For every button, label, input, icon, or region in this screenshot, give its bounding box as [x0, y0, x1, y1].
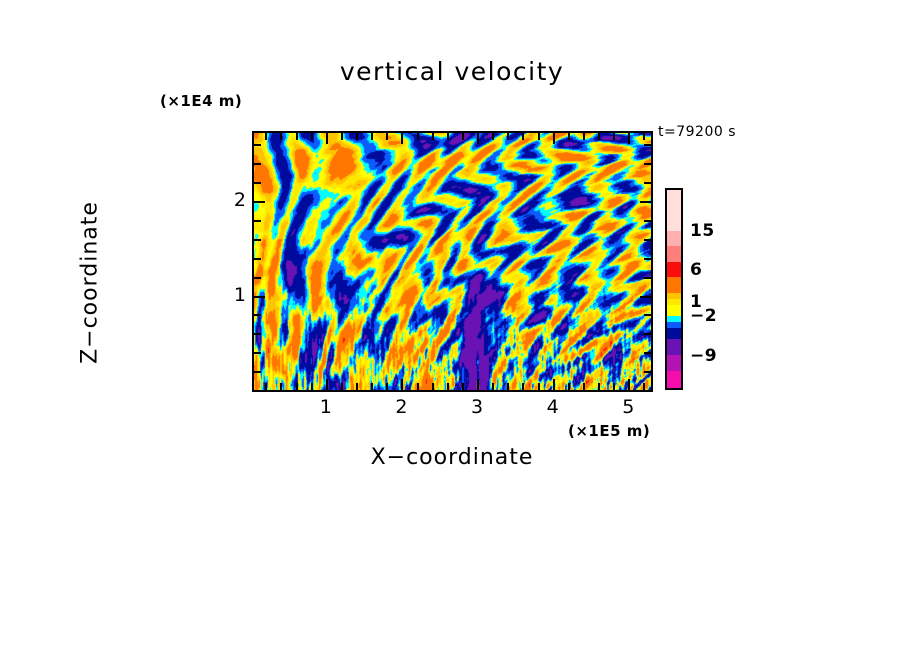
y-axis-tick: [254, 277, 261, 279]
y-axis-tick: [644, 314, 651, 316]
x-axis-tick: [326, 133, 328, 144]
x-axis-tick: [356, 383, 358, 390]
x-tick-label: 1: [306, 396, 346, 418]
y-axis-tick: [254, 258, 261, 260]
x-axis-tick: [356, 133, 358, 140]
y-axis-tick: [254, 201, 265, 203]
x-axis-tick: [296, 133, 298, 140]
y-axis-tick: [640, 296, 651, 298]
x-axis-tick: [462, 133, 464, 140]
y-axis-title: Z−coordinate: [78, 183, 103, 383]
y-axis-tick: [644, 352, 651, 354]
y-axis-tick: [254, 144, 261, 146]
x-tick-label: 4: [533, 396, 573, 418]
y-axis-tick: [254, 163, 261, 165]
x-axis-tick: [538, 383, 540, 390]
x-axis-tick: [341, 133, 343, 140]
x-axis-tick: [507, 383, 509, 390]
x-axis-tick: [401, 379, 403, 390]
x-axis-unit-label: (×1E5 m): [568, 422, 650, 440]
colorbar[interactable]: [665, 188, 683, 390]
x-axis-tick: [311, 133, 313, 140]
x-axis-tick: [462, 383, 464, 390]
y-axis-unit-label: (×1E4 m): [160, 92, 242, 110]
x-axis-tick: [386, 133, 388, 140]
colorbar-tick-label: 6: [690, 260, 702, 280]
x-axis-tick: [311, 383, 313, 390]
x-axis-tick: [553, 133, 555, 144]
x-tick-label: 2: [381, 396, 421, 418]
colorbar-tick-label: −9: [690, 346, 717, 366]
x-axis-tick: [447, 133, 449, 140]
x-axis-tick: [643, 133, 645, 140]
x-axis-title: X−coordinate: [0, 445, 904, 470]
x-axis-tick: [386, 383, 388, 390]
x-axis-tick: [538, 133, 540, 140]
page-title: vertical velocity: [0, 57, 904, 86]
y-axis-tick: [254, 314, 261, 316]
y-axis-tick: [644, 277, 651, 279]
x-axis-tick: [371, 133, 373, 140]
colorbar-tick-label: 15: [690, 221, 715, 241]
x-axis-tick: [417, 133, 419, 140]
colorbar-band: [667, 339, 681, 355]
y-axis-tick: [644, 144, 651, 146]
x-axis-tick: [522, 133, 524, 140]
x-axis-tick: [341, 383, 343, 390]
x-axis-tick: [553, 379, 555, 390]
x-axis-tick: [280, 383, 282, 390]
x-axis-tick: [265, 383, 267, 390]
y-axis-tick: [644, 220, 651, 222]
y-axis-tick: [254, 352, 261, 354]
colorbar-band: [667, 355, 681, 371]
x-axis-tick: [447, 383, 449, 390]
y-axis-tick: [254, 220, 261, 222]
y-axis-tick: [644, 239, 651, 241]
x-axis-tick: [522, 383, 524, 390]
x-axis-tick: [492, 133, 494, 140]
colorbar-tick-label: −2: [690, 306, 717, 326]
x-tick-label: 5: [608, 396, 648, 418]
x-axis-tick: [477, 379, 479, 390]
x-axis-tick: [583, 383, 585, 390]
time-stamp-label: t=79200 s: [658, 124, 736, 140]
y-axis-tick: [254, 239, 261, 241]
colorbar-band: [667, 328, 681, 339]
colorbar-band: [667, 371, 681, 388]
colorbar-band: [667, 246, 681, 262]
x-axis-tick: [432, 383, 434, 390]
x-axis-tick: [417, 383, 419, 390]
x-axis-tick: [326, 379, 328, 390]
y-tick-label: 1: [224, 284, 246, 306]
y-tick-label: 2: [224, 189, 246, 211]
y-axis-tick: [644, 182, 651, 184]
x-axis-tick: [598, 133, 600, 140]
y-axis-tick: [644, 371, 651, 373]
x-axis-tick: [628, 133, 630, 144]
contour-plot-area[interactable]: [252, 131, 653, 392]
colorbar-band: [667, 231, 681, 246]
x-axis-tick: [628, 379, 630, 390]
x-axis-tick: [492, 383, 494, 390]
x-axis-tick: [583, 133, 585, 140]
x-axis-tick: [432, 133, 434, 140]
colorbar-band: [667, 190, 681, 231]
y-axis-tick: [644, 258, 651, 260]
x-axis-tick: [371, 383, 373, 390]
x-axis-tick: [568, 133, 570, 140]
velocity-field-canvas: [254, 133, 651, 390]
x-axis-tick: [613, 383, 615, 390]
y-axis-tick: [254, 371, 261, 373]
colorbar-band: [667, 277, 681, 293]
y-axis-tick: [254, 182, 261, 184]
x-axis-tick: [643, 383, 645, 390]
x-axis-tick: [401, 133, 403, 144]
x-tick-label: 3: [457, 396, 497, 418]
x-axis-tick: [280, 133, 282, 140]
x-axis-tick: [265, 133, 267, 140]
x-axis-tick: [507, 133, 509, 140]
y-axis-tick: [644, 163, 651, 165]
colorbar-band: [667, 305, 681, 316]
y-axis-tick: [254, 333, 261, 335]
y-axis-tick: [644, 333, 651, 335]
x-axis-tick: [296, 383, 298, 390]
x-axis-tick: [598, 383, 600, 390]
y-axis-tick: [254, 296, 265, 298]
x-axis-tick: [613, 133, 615, 140]
x-axis-tick: [477, 133, 479, 144]
colorbar-band: [667, 262, 681, 278]
x-axis-tick: [568, 383, 570, 390]
y-axis-tick: [640, 201, 651, 203]
